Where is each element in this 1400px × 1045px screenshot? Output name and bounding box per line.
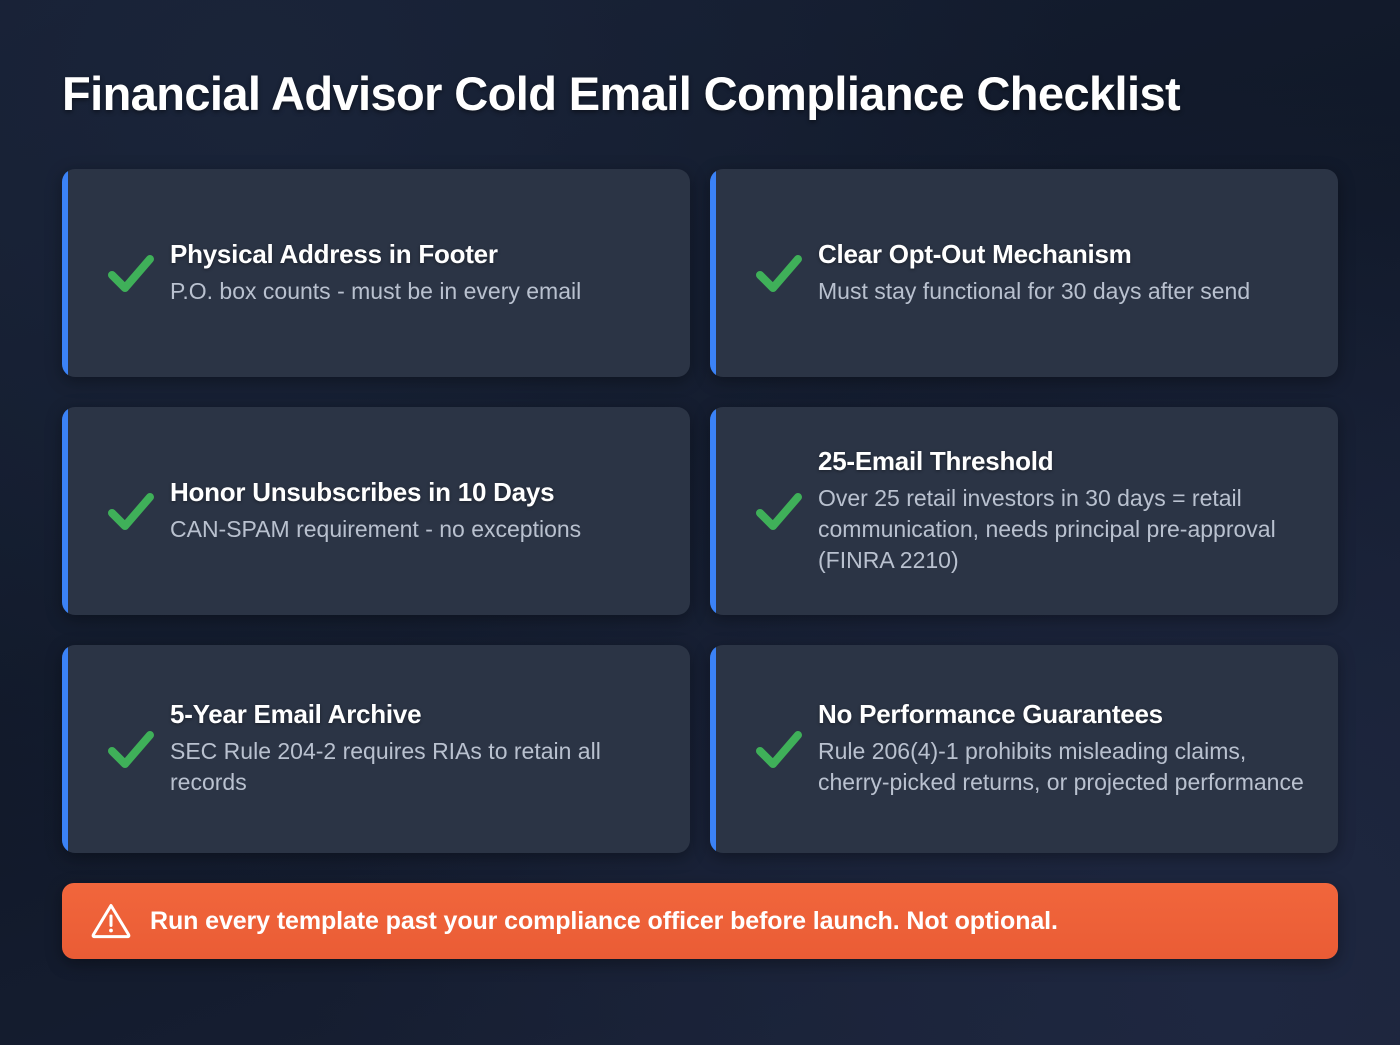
checklist-card-description: P.O. box counts - must be in every email [170,276,660,307]
checklist-card-title: 5-Year Email Archive [170,699,660,729]
checklist-card-description: SEC Rule 204-2 requires RIAs to retain a… [170,736,660,798]
checklist-grid: Physical Address in Footer P.O. box coun… [62,169,1338,853]
checklist-card-text: 25-Email Threshold Over 25 retail invest… [818,446,1312,576]
check-icon [748,718,810,780]
checklist-card-description: CAN-SPAM requirement - no exceptions [170,514,660,545]
checklist-card-description: Rule 206(4)-1 prohibits misleading claim… [818,736,1308,798]
check-icon [100,242,162,304]
checklist-card-text: Honor Unsubscribes in 10 Days CAN-SPAM r… [170,477,664,545]
checklist-card[interactable]: 25-Email Threshold Over 25 retail invest… [710,407,1338,615]
checklist-card-description: Over 25 retail investors in 30 days = re… [818,483,1308,575]
check-icon [748,480,810,542]
page-title: Financial Advisor Cold Email Compliance … [62,0,1338,121]
warning-banner: Run every template past your compliance … [62,883,1338,959]
checklist-card[interactable]: Physical Address in Footer P.O. box coun… [62,169,690,377]
check-icon [100,718,162,780]
check-icon [100,480,162,542]
checklist-card[interactable]: 5-Year Email Archive SEC Rule 204-2 requ… [62,645,690,853]
check-icon [748,242,810,304]
checklist-card[interactable]: No Performance Guarantees Rule 206(4)-1 … [710,645,1338,853]
checklist-card-text: No Performance Guarantees Rule 206(4)-1 … [818,699,1312,798]
checklist-card-title: Clear Opt-Out Mechanism [818,239,1308,269]
checklist-card[interactable]: Honor Unsubscribes in 10 Days CAN-SPAM r… [62,407,690,615]
warning-banner-text: Run every template past your compliance … [150,906,1058,936]
checklist-card-title: 25-Email Threshold [818,446,1308,476]
checklist-poster: Financial Advisor Cold Email Compliance … [0,0,1400,1045]
checklist-card-text: Physical Address in Footer P.O. box coun… [170,239,664,307]
checklist-card-title: Honor Unsubscribes in 10 Days [170,477,660,507]
checklist-card-description: Must stay functional for 30 days after s… [818,276,1308,307]
checklist-card[interactable]: Clear Opt-Out Mechanism Must stay functi… [710,169,1338,377]
checklist-card-title: Physical Address in Footer [170,239,660,269]
checklist-card-text: Clear Opt-Out Mechanism Must stay functi… [818,239,1312,307]
checklist-card-text: 5-Year Email Archive SEC Rule 204-2 requ… [170,699,664,798]
warning-triangle-icon [90,900,132,942]
checklist-card-title: No Performance Guarantees [818,699,1308,729]
